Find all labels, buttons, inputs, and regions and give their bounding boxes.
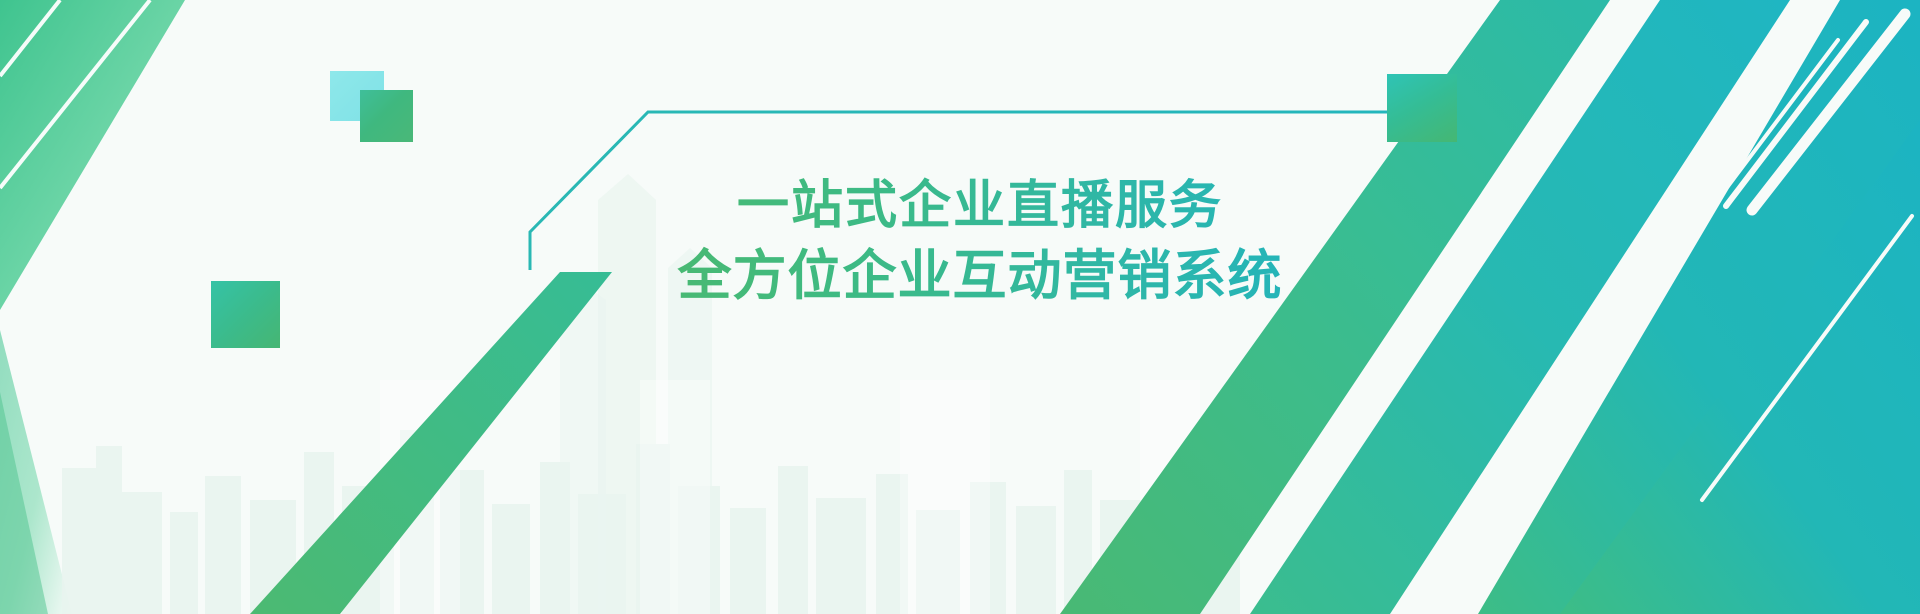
square-green-right xyxy=(1387,74,1457,142)
square-green-left xyxy=(211,281,280,348)
headline-line-2: 全方位企业互动营销系统 xyxy=(630,241,1330,312)
square-green-top xyxy=(360,90,413,142)
headline: 一站式企业直播服务 全方位企业互动营销系统 xyxy=(630,172,1330,312)
hero-banner: 一站式企业直播服务 全方位企业互动营销系统 xyxy=(0,0,1920,614)
headline-line-1: 一站式企业直播服务 xyxy=(630,172,1330,241)
